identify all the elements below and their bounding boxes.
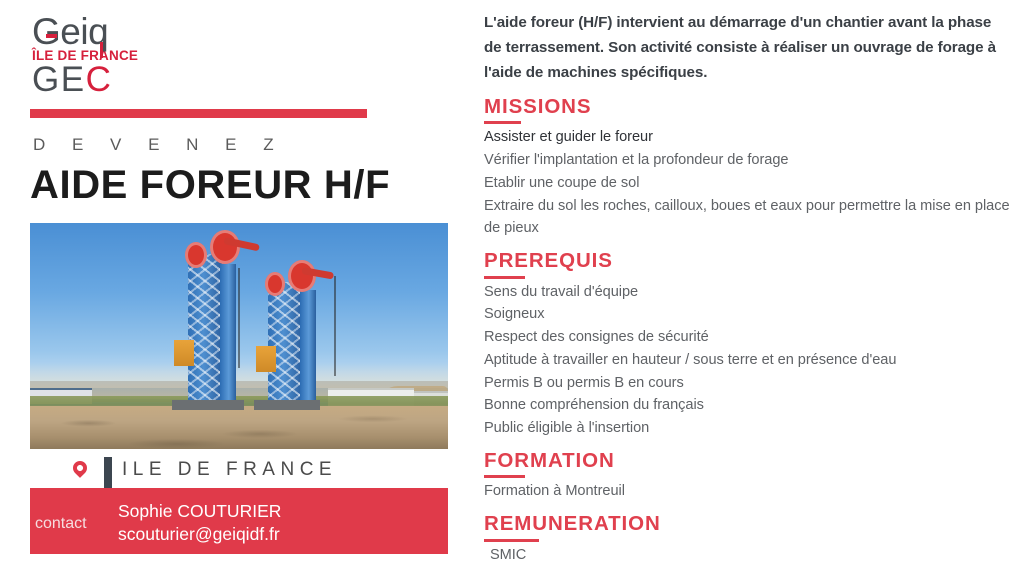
logo-q-tail-icon	[100, 42, 104, 58]
section-heading: PREREQUIS	[484, 250, 613, 280]
list-item: Bonne compréhension du français	[484, 394, 1024, 417]
sections-container: MISSIONSAssister et guider le foreurVéri…	[484, 96, 1024, 576]
section-heading-underline	[484, 539, 539, 542]
intro-paragraph: L'aide foreur (H/F) intervient au démarr…	[484, 10, 1004, 86]
contact-label: contact	[35, 515, 87, 533]
logo-wordmark-gec: GEC	[32, 62, 138, 97]
contact-panel: contact Sophie COUTURIER scouturier@geiq…	[30, 488, 448, 554]
map-pin-icon	[70, 458, 90, 478]
drilling-rig-photo	[30, 223, 448, 449]
section-list: SMIC	[484, 544, 1024, 567]
list-item: Aptitude à travailler en hauteur / sous …	[484, 349, 1024, 372]
brand-divider-bar	[30, 109, 367, 118]
list-item: Soigneux	[484, 303, 1024, 326]
section-heading-underline	[484, 121, 521, 124]
list-item: Permis B ou permis B en cours	[484, 372, 1024, 395]
list-item: Etablir une coupe de sol	[484, 172, 1024, 195]
logo-gec-ge: GE	[32, 60, 86, 99]
logo-g-crossbar-icon	[46, 34, 57, 38]
section-missions: MISSIONSAssister et guider le foreurVéri…	[484, 96, 1024, 240]
location-label: ILE DE FRANCE	[122, 459, 337, 481]
left-column: Geiq ÎLE DE FRANCE GEC D E V E N E Z AID…	[0, 0, 470, 576]
logo-wordmark-geiq: Geiq	[32, 14, 108, 49]
contact-name: Sophie COUTURIER	[118, 501, 281, 522]
kicker-text: D E V E N E Z	[33, 135, 285, 155]
section-list: Formation à Montreuil	[484, 480, 1024, 503]
list-item: Respect des consignes de sécurité	[484, 326, 1024, 349]
list-item: Formation à Montreuil	[484, 480, 1024, 503]
section-heading: FORMATION	[484, 450, 615, 480]
section-formation: FORMATIONFormation à Montreuil	[484, 450, 1024, 503]
location-row: ILE DE FRANCE	[30, 459, 448, 491]
section-heading-underline	[484, 475, 525, 478]
section-heading: MISSIONS	[484, 96, 591, 126]
list-item: SMIC	[484, 544, 1024, 567]
logo-geiq-text: Geiq	[32, 11, 108, 52]
photo-ground	[30, 406, 448, 449]
section-prerequis: PREREQUISSens du travail d'équipeSoigneu…	[484, 250, 1024, 440]
list-item: Public éligible à l'insertion	[484, 417, 1024, 440]
section-remuneration: REMUNERATIONSMIC	[484, 513, 1024, 566]
section-list: Sens du travail d'équipeSoigneuxRespect …	[484, 281, 1024, 440]
list-item: Sens du travail d'équipe	[484, 281, 1024, 304]
list-item: Assister et guider le foreur	[484, 126, 1024, 149]
logo-gec-c: C	[86, 60, 113, 99]
right-column: L'aide foreur (H/F) intervient au démarr…	[484, 0, 1024, 576]
section-list: Assister et guider le foreurVérifier l'i…	[484, 126, 1024, 240]
job-poster: Geiq ÎLE DE FRANCE GEC D E V E N E Z AID…	[0, 0, 1024, 576]
geiq-logo: Geiq ÎLE DE FRANCE GEC	[32, 14, 138, 97]
section-heading: REMUNERATION	[484, 513, 661, 543]
contact-email[interactable]: scouturier@geiqidf.fr	[118, 524, 280, 545]
list-item: Extraire du sol les roches, cailloux, bo…	[484, 195, 1024, 241]
page-title: AIDE FOREUR H/F	[30, 163, 390, 208]
section-heading-underline	[484, 276, 525, 279]
list-item: Vérifier l'implantation et la profondeur…	[484, 149, 1024, 172]
